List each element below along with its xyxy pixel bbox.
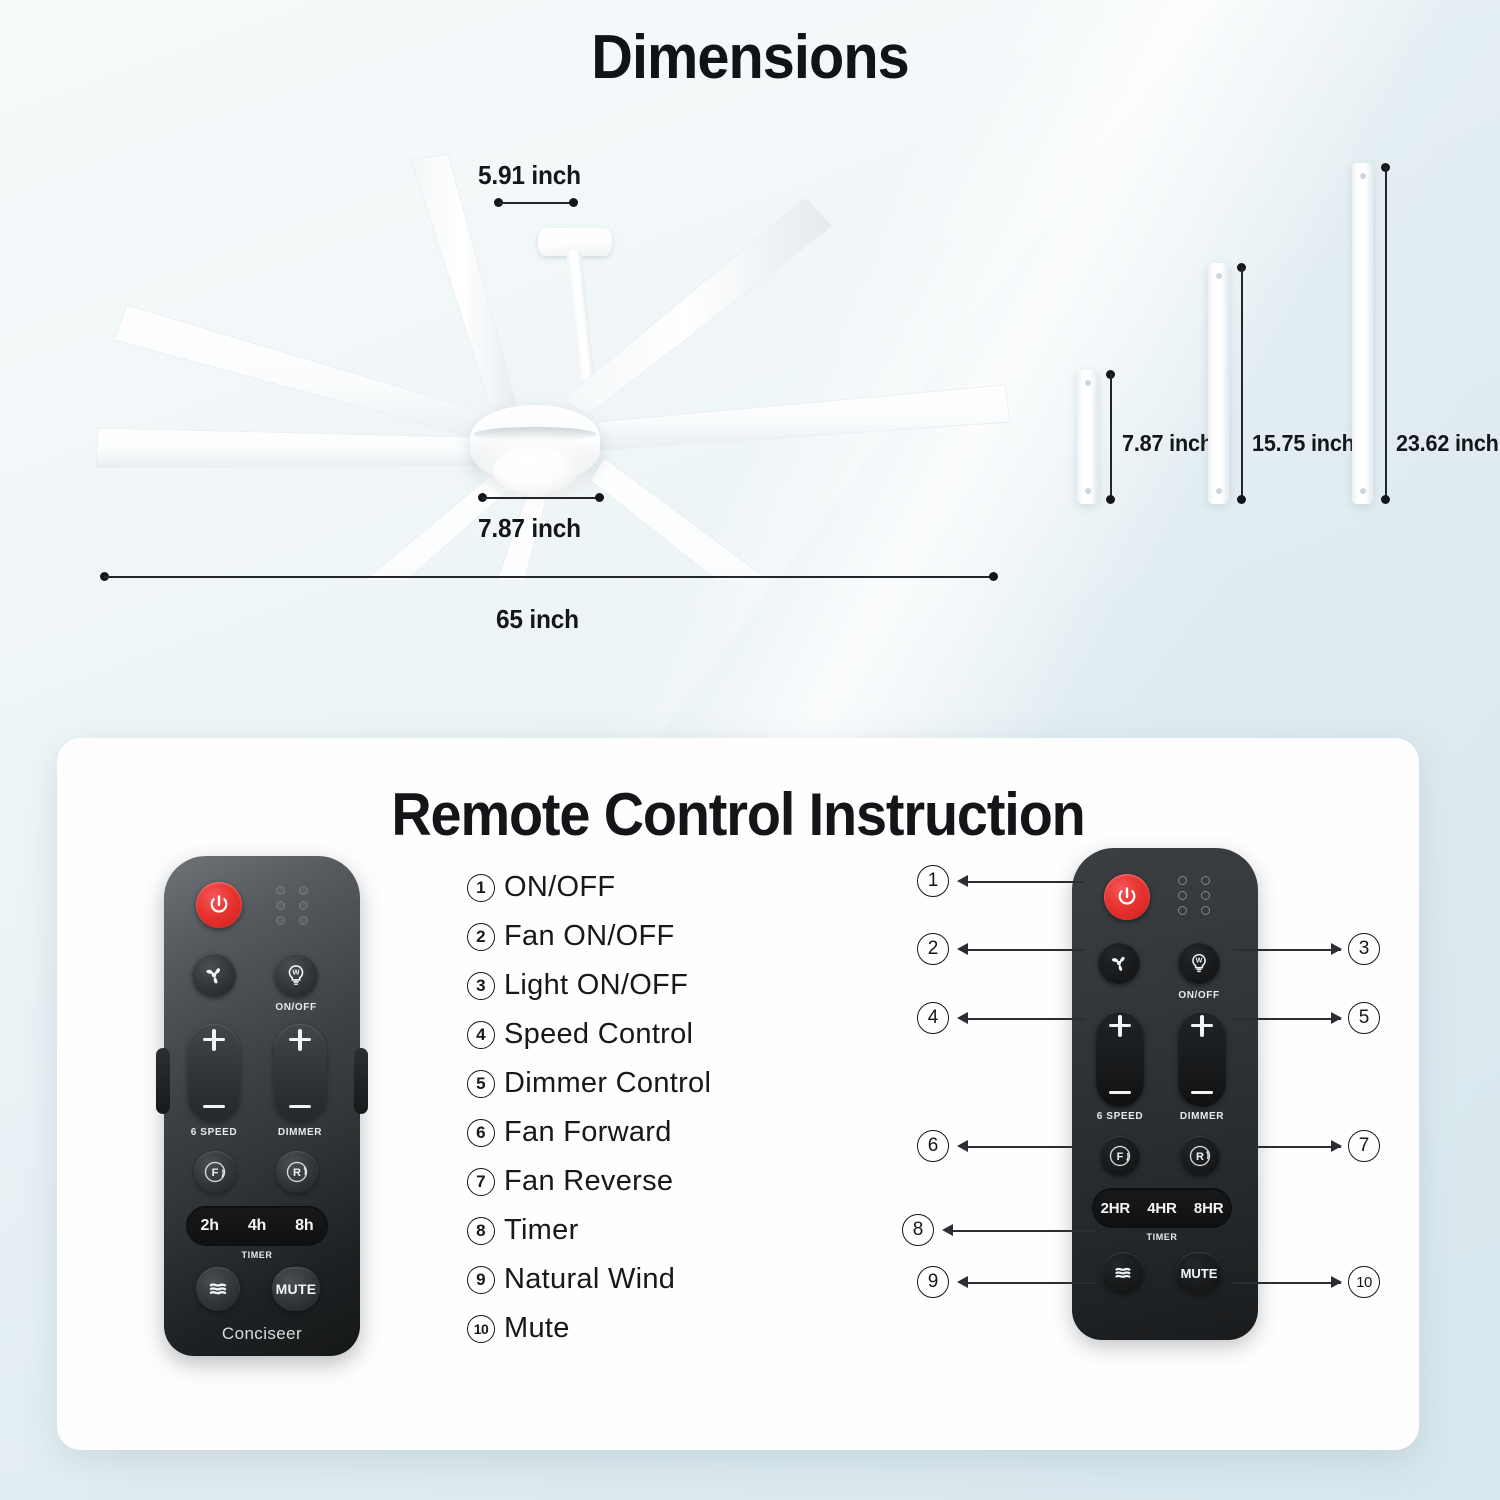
- fan-motor-ring: [474, 427, 596, 441]
- svg-text:W: W: [1196, 958, 1203, 965]
- natural-wind-button-diagram[interactable]: [1102, 1252, 1144, 1294]
- dimmer-label: DIMMER: [264, 1127, 336, 1138]
- dimension-line-downrod-3: [1381, 163, 1391, 504]
- list-item: 10 Mute: [467, 1304, 797, 1353]
- natural-wind-icon: [1111, 1261, 1135, 1285]
- page-title-remote: Remote Control Instruction: [105, 780, 1372, 849]
- dimension-label-downrod-3: 23.62 inch: [1396, 430, 1499, 457]
- callout-leader-10: [1233, 1282, 1341, 1284]
- legend-number: 6: [467, 1119, 495, 1147]
- dimmer-button[interactable]: [274, 1024, 326, 1122]
- dimmer-label: DIMMER: [1166, 1111, 1238, 1122]
- minus-icon: [289, 1105, 311, 1108]
- downrod-short: [1077, 370, 1098, 504]
- svg-text:R: R: [1196, 1151, 1204, 1163]
- fan-forward-button[interactable]: F: [194, 1151, 236, 1193]
- plus-icon: [289, 1038, 311, 1041]
- natural-wind-button[interactable]: [196, 1267, 240, 1311]
- dimension-line-motor-width: [478, 493, 604, 503]
- ir-dot: [1201, 906, 1210, 915]
- natural-wind-icon: [205, 1276, 231, 1302]
- legend-number: 9: [467, 1266, 495, 1294]
- timer-button-group[interactable]: 2h 4h 8h: [186, 1206, 328, 1246]
- callout-leader-2: [967, 949, 1085, 951]
- callout-arrow-9: [957, 1276, 968, 1288]
- list-item: 9 Natural Wind: [467, 1255, 797, 1304]
- dimension-line-downrod-1: [1106, 370, 1116, 504]
- mute-button-diagram[interactable]: MUTE: [1176, 1252, 1222, 1294]
- downrod-hole: [1085, 488, 1091, 494]
- reverse-rotation-icon: R: [282, 1157, 312, 1187]
- power-button[interactable]: [196, 882, 242, 928]
- callout-leader-7: [1233, 1146, 1341, 1148]
- light-onoff-label: ON/OFF: [1164, 990, 1234, 1001]
- downrod-long: [1352, 163, 1373, 504]
- ir-dot: [276, 886, 285, 895]
- callout-arrow-1: [957, 875, 968, 887]
- power-icon: [1115, 885, 1139, 909]
- power-button-diagram[interactable]: [1104, 874, 1150, 920]
- list-item: 2 Fan ON/OFF: [467, 912, 797, 961]
- light-bulb-icon: W: [283, 962, 309, 988]
- timer-option-2hr[interactable]: 2HR: [1101, 1200, 1130, 1217]
- callout-5: 5: [1348, 1002, 1380, 1034]
- ir-indicator-dots: [1178, 876, 1210, 915]
- svg-text:W: W: [292, 968, 300, 977]
- remote-side-grip: [354, 1048, 368, 1114]
- legend-number: 10: [467, 1315, 495, 1343]
- callout-7: 7: [1348, 1130, 1380, 1162]
- mute-label: MUTE: [276, 1281, 317, 1297]
- remote-control-photo: W ON/OFF 6 SPEED DIMMER: [164, 856, 360, 1356]
- downrod-hole: [1216, 273, 1222, 279]
- remote-control-diagram: W ON/OFF 6 SPEED DIMMER: [1072, 848, 1258, 1340]
- forward-rotation-icon: F: [200, 1157, 230, 1187]
- minus-icon: [1191, 1091, 1213, 1094]
- callout-arrow-10: [1331, 1276, 1342, 1288]
- legend-label: Speed Control: [504, 1018, 693, 1051]
- dimension-line-blade-span: [100, 572, 998, 582]
- downrod-hole: [1085, 380, 1091, 386]
- downrod-hole: [1360, 488, 1366, 494]
- ir-dot: [299, 886, 308, 895]
- ir-indicator-dots: [276, 886, 308, 925]
- remote-side-grip: [156, 1048, 170, 1114]
- light-onoff-button-diagram[interactable]: W: [1178, 942, 1220, 984]
- callout-arrow-5: [1331, 1012, 1342, 1024]
- legend-label: Fan Reverse: [504, 1165, 673, 1198]
- power-icon: [207, 893, 231, 917]
- plus-icon: [1109, 1024, 1131, 1027]
- speed-label: 6 SPEED: [176, 1127, 252, 1138]
- legend-number: 3: [467, 972, 495, 1000]
- downrod-hole: [1216, 488, 1222, 494]
- fan-icon: [201, 962, 227, 988]
- plus-icon: [203, 1038, 225, 1041]
- dimension-endpoint: [1237, 495, 1246, 504]
- legend-number: 5: [467, 1070, 495, 1098]
- dimension-label-downrod-2: 15.75 inch: [1252, 430, 1355, 457]
- callout-arrow-6: [957, 1140, 968, 1152]
- callout-8: 8: [902, 1214, 934, 1246]
- legend-number: 7: [467, 1168, 495, 1196]
- dimmer-button-diagram[interactable]: [1178, 1011, 1226, 1107]
- callout-leader-6: [967, 1146, 1089, 1148]
- dimension-endpoint: [595, 493, 604, 502]
- ir-dot: [1201, 876, 1210, 885]
- callout-6: 6: [917, 1130, 949, 1162]
- fan-speed-button-diagram[interactable]: [1096, 1011, 1144, 1107]
- callout-leader-5: [1233, 1018, 1341, 1020]
- svg-text:F: F: [1117, 1151, 1124, 1163]
- legend-label: Fan Forward: [504, 1116, 672, 1149]
- fan-reverse-button-diagram[interactable]: R: [1180, 1136, 1220, 1176]
- ir-dot: [1201, 891, 1210, 900]
- callout-arrow-7: [1331, 1140, 1342, 1152]
- list-item: 5 Dimmer Control: [467, 1059, 797, 1108]
- fan-icon: [1107, 951, 1131, 975]
- fan-led-light: [493, 446, 578, 494]
- list-item: 3 Light ON/OFF: [467, 961, 797, 1010]
- svg-text:F: F: [212, 1167, 219, 1179]
- callout-arrow-8: [942, 1224, 953, 1236]
- list-item: 1 ON/OFF: [467, 863, 797, 912]
- timer-option-8h[interactable]: 8h: [295, 1217, 313, 1235]
- fan-forward-button-diagram[interactable]: F: [1100, 1136, 1140, 1176]
- ir-dot: [299, 916, 308, 925]
- legend-label: Fan ON/OFF: [504, 920, 675, 953]
- dimension-endpoint: [1106, 495, 1115, 504]
- timer-option-4h[interactable]: 4h: [248, 1217, 266, 1235]
- ir-dot: [276, 916, 285, 925]
- timer-option-8hr[interactable]: 8HR: [1194, 1200, 1223, 1217]
- forward-rotation-icon: F: [1105, 1141, 1135, 1171]
- brand-logo: Conciseer: [164, 1324, 360, 1344]
- callout-1: 1: [917, 865, 949, 897]
- callout-leader-3: [1233, 949, 1341, 951]
- ir-dot: [1178, 891, 1187, 900]
- legend-number: 2: [467, 923, 495, 951]
- callout-arrow-2: [957, 943, 968, 955]
- dimension-line-downrod-2: [1237, 263, 1247, 504]
- ir-dot: [299, 901, 308, 910]
- legend-label: Natural Wind: [504, 1263, 675, 1296]
- list-item: 6 Fan Forward: [467, 1108, 797, 1157]
- svg-text:R: R: [293, 1167, 301, 1179]
- dimension-label-blade-span: 65 inch: [496, 604, 579, 635]
- dimension-endpoint: [989, 572, 998, 581]
- fan-onoff-button[interactable]: [192, 953, 236, 997]
- infographic-page: Dimensions 5.91 inch: [0, 0, 1500, 1500]
- mute-button[interactable]: MUTE: [272, 1267, 320, 1311]
- dimension-bar: [1241, 267, 1243, 500]
- legend-label: Light ON/OFF: [504, 969, 688, 1002]
- speed-label: 6 SPEED: [1082, 1111, 1158, 1122]
- ir-dot: [1178, 906, 1187, 915]
- callout-arrow-4: [957, 1012, 968, 1024]
- plus-icon: [1191, 1024, 1213, 1027]
- legend-label: Timer: [504, 1214, 579, 1247]
- remote-instruction-card: Remote Control Instruction 1 ON/OFF 2 Fa…: [57, 738, 1419, 1450]
- callout-10: 10: [1348, 1266, 1380, 1298]
- ir-dot: [276, 901, 285, 910]
- remote-function-legend: 1 ON/OFF 2 Fan ON/OFF 3 Light ON/OFF 4 S…: [467, 863, 797, 1353]
- callout-3: 3: [1348, 933, 1380, 965]
- callout-4: 4: [917, 1002, 949, 1034]
- downrod-medium: [1208, 263, 1229, 504]
- callout-2: 2: [917, 933, 949, 965]
- reverse-rotation-icon: R: [1185, 1141, 1215, 1171]
- fan-reverse-button[interactable]: R: [276, 1151, 318, 1193]
- callout-leader-1: [967, 881, 1083, 883]
- dimension-bar: [1110, 374, 1112, 500]
- mute-label: MUTE: [1181, 1266, 1218, 1281]
- list-item: 7 Fan Reverse: [467, 1157, 797, 1206]
- dimension-endpoint: [1381, 495, 1390, 504]
- legend-label: ON/OFF: [504, 871, 615, 904]
- light-onoff-button[interactable]: W: [274, 953, 318, 997]
- fan-speed-button[interactable]: [188, 1024, 240, 1122]
- callout-leader-8: [952, 1230, 1094, 1232]
- minus-icon: [1109, 1091, 1131, 1094]
- page-title-dimensions: Dimensions: [53, 22, 1448, 93]
- legend-number: 4: [467, 1021, 495, 1049]
- dimension-bar: [104, 576, 994, 578]
- legend-label: Mute: [504, 1312, 570, 1345]
- list-item: 8 Timer: [467, 1206, 797, 1255]
- dimension-label-downrod-1: 7.87 inch: [1122, 430, 1213, 457]
- callout-leader-9: [967, 1282, 1095, 1284]
- dimension-bar: [1385, 167, 1387, 500]
- callout-9: 9: [917, 1266, 949, 1298]
- minus-icon: [203, 1105, 225, 1108]
- light-bulb-icon: W: [1187, 951, 1211, 975]
- fan-onoff-button-diagram[interactable]: [1098, 942, 1140, 984]
- legend-number: 1: [467, 874, 495, 902]
- timer-option-4hr[interactable]: 4HR: [1147, 1200, 1176, 1217]
- light-onoff-label: ON/OFF: [260, 1002, 332, 1013]
- timer-button-group-diagram[interactable]: 2HR 4HR 8HR: [1092, 1188, 1232, 1228]
- dimension-label-motor-width: 7.87 inch: [478, 513, 581, 544]
- legend-label: Dimmer Control: [504, 1067, 711, 1100]
- timer-label: TIMER: [211, 1250, 303, 1260]
- ir-dot: [1178, 876, 1187, 885]
- callout-leader-4: [967, 1018, 1085, 1020]
- dimension-bar: [482, 497, 600, 499]
- list-item: 4 Speed Control: [467, 1010, 797, 1059]
- callout-arrow-3: [1331, 943, 1342, 955]
- timer-label: TIMER: [1116, 1232, 1208, 1242]
- downrod-hole: [1360, 173, 1366, 179]
- legend-number: 8: [467, 1217, 495, 1245]
- timer-option-2h[interactable]: 2h: [201, 1217, 219, 1235]
